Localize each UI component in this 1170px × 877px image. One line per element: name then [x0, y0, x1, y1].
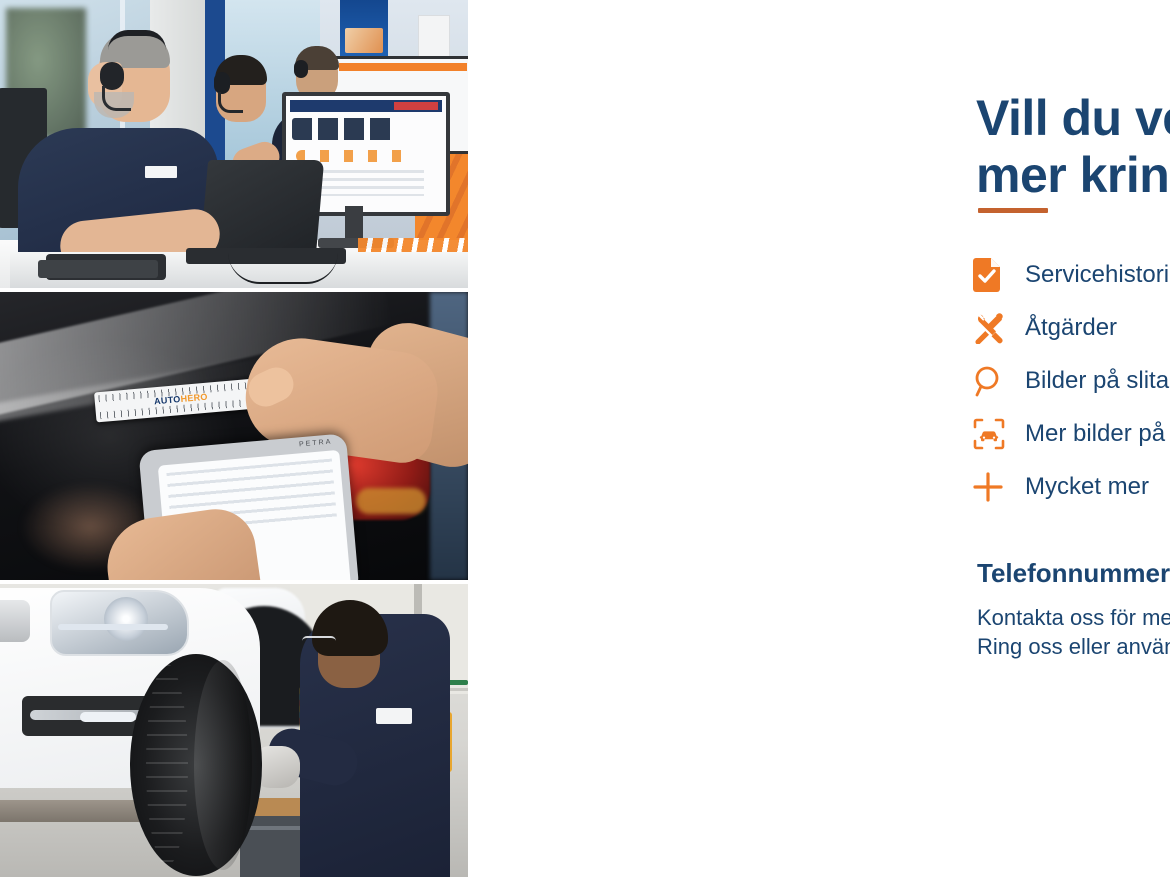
feature-label: Servicehistoriken	[1025, 261, 1170, 289]
page-title: Vill du veta mer kring:	[976, 90, 1170, 205]
call-center-agents-photo	[0, 0, 468, 288]
car-scan-icon	[973, 418, 1025, 450]
promo-banner: AUTOHERO PETRA	[0, 0, 1170, 877]
feature-item-atgarder: Åtgärder	[973, 301, 1170, 354]
contact-block: Telefonnummer: +46812411432 Kontakta oss…	[977, 558, 1170, 661]
headline-line-1: Vill du veta	[976, 90, 1170, 146]
checklist-document-icon	[973, 258, 1025, 292]
wrench-screwdriver-icon	[973, 312, 1025, 344]
phone-number[interactable]: Telefonnummer: +46812411432	[977, 558, 1170, 589]
content-panel: Vill du veta mer kring: Servicehistorike…	[468, 0, 1170, 877]
headline-line-2: mer kring:	[976, 147, 1170, 205]
feature-label: Åtgärder	[1025, 314, 1117, 342]
contact-line-1: Kontakta oss för mer information!	[977, 603, 1170, 632]
title-divider	[978, 208, 1048, 213]
contact-line-2: Ring oss eller använd kontaktformuläret.	[977, 632, 1170, 661]
feature-label: Mycket mer	[1025, 473, 1149, 501]
feature-list: Servicehistoriken Åtgärder	[973, 248, 1170, 513]
feature-item-mycket-mer: Mycket mer	[973, 460, 1170, 513]
feature-item-bilder-pa-slitage: Bilder på slitage	[973, 354, 1170, 407]
feature-item-mer-bilder-pa-bilen: Mer bilder på bilen	[973, 407, 1170, 460]
car-inspection-ruler-photo: AUTOHERO PETRA	[0, 292, 468, 580]
feature-label: Bilder på slitage	[1025, 367, 1170, 395]
feature-label: Mer bilder på bilen	[1025, 420, 1170, 448]
workshop-tire-photo	[0, 584, 468, 877]
magnifier-icon	[973, 365, 1025, 397]
photo-column: AUTOHERO PETRA	[0, 0, 468, 877]
feature-item-servicehistoriken: Servicehistoriken	[973, 248, 1170, 301]
plus-icon	[973, 472, 1025, 502]
